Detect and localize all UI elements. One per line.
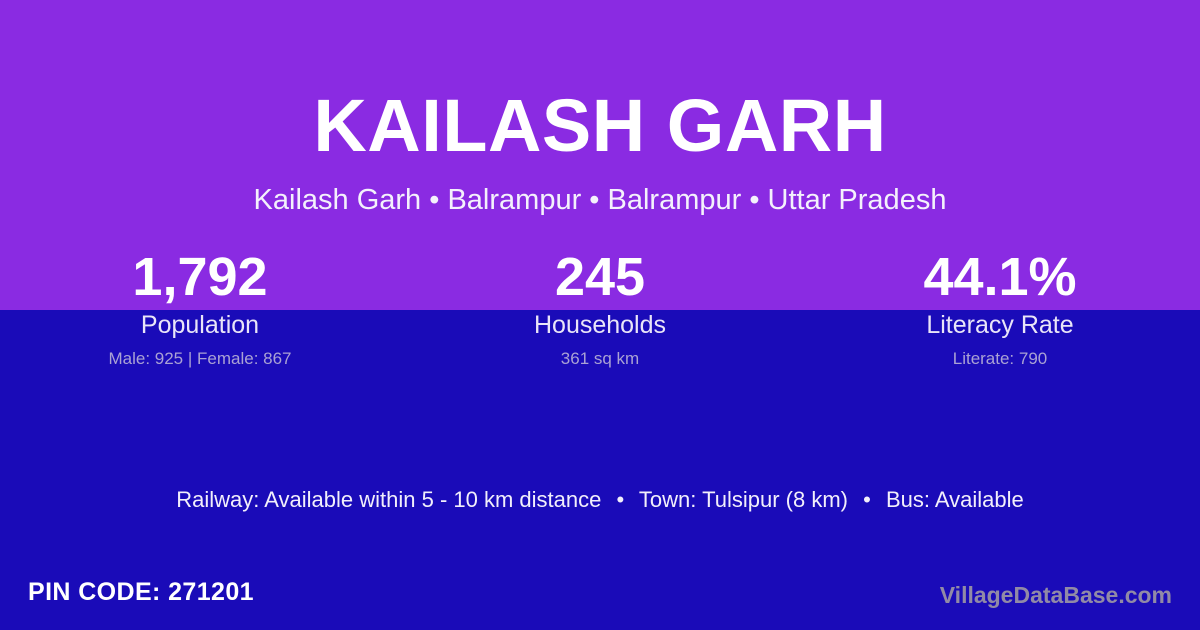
stat-sub-population: Male: 925 | Female: 867 bbox=[108, 348, 291, 370]
stat-households: 245 Households 361 sq km bbox=[400, 246, 800, 386]
stat-label-literacy-rate: Literacy Rate bbox=[926, 310, 1073, 340]
stat-literacy-rate: 44.1% Literacy Rate Literate: 790 bbox=[800, 246, 1200, 386]
infra-railway: Railway: Available within 5 - 10 km dist… bbox=[176, 487, 601, 512]
stat-population: 1,792 Population Male: 925 | Female: 867 bbox=[0, 246, 400, 386]
stat-label-households: Households bbox=[534, 310, 666, 340]
stat-value-population: 1,792 bbox=[132, 246, 267, 308]
pin-code: PIN CODE: 271201 bbox=[28, 576, 254, 608]
stats-row: 1,792 Population Male: 925 | Female: 867… bbox=[0, 246, 1200, 386]
infra-separator-icon: • bbox=[854, 485, 880, 515]
stat-value-literacy-rate: 44.1% bbox=[923, 246, 1076, 308]
infra-separator-icon: • bbox=[608, 485, 634, 515]
infrastructure-line: Railway: Available within 5 - 10 km dist… bbox=[0, 485, 1200, 515]
village-info-card: KAILASH GARH Kailash Garh • Balrampur • … bbox=[0, 0, 1200, 630]
infra-bus: Bus: Available bbox=[886, 487, 1024, 512]
stat-sub-households: 361 sq km bbox=[561, 348, 639, 370]
site-brand: VillageDataBase.com bbox=[940, 580, 1172, 610]
stat-sub-literacy-rate: Literate: 790 bbox=[953, 348, 1048, 370]
infra-town: Town: Tulsipur (8 km) bbox=[639, 487, 848, 512]
stat-label-population: Population bbox=[141, 310, 259, 340]
page-title: KAILASH GARH bbox=[0, 84, 1200, 168]
stat-value-households: 245 bbox=[555, 246, 645, 308]
breadcrumb: Kailash Garh • Balrampur • Balrampur • U… bbox=[0, 182, 1200, 218]
